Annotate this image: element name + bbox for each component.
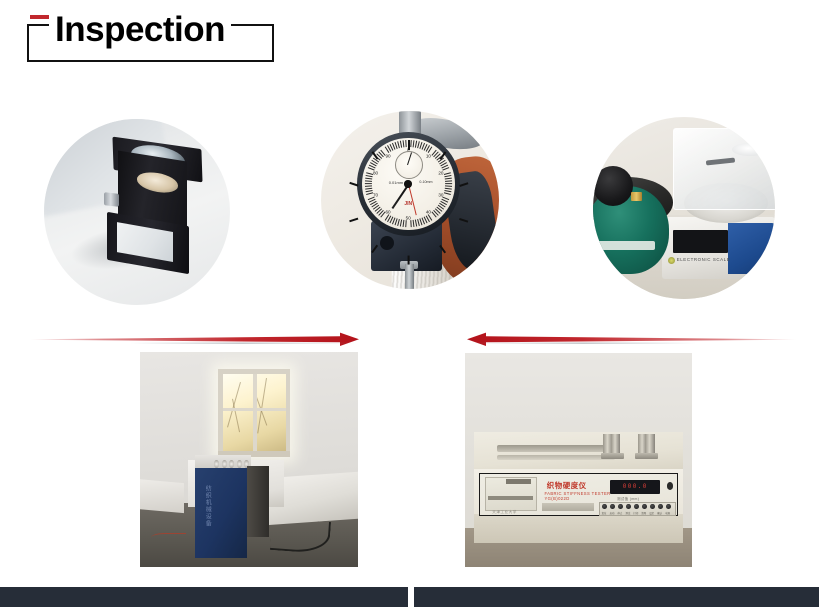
page-title: Inspection (49, 7, 231, 53)
tester-button-label: 停止 (618, 511, 623, 515)
machine-knob[interactable] (222, 460, 227, 469)
tester-button-label: 清零 (641, 511, 646, 515)
gauge-tick (403, 141, 405, 148)
tester-button-label: 设定 (649, 511, 654, 515)
gauge-scale-number: 20 (438, 171, 443, 176)
gauge-scale-number: 60 (385, 209, 390, 214)
window-mullion-horizontal (223, 408, 286, 411)
gauge-tick (445, 193, 452, 196)
gauge-tick (405, 221, 406, 228)
gauge-tick (443, 167, 449, 170)
gauge-dial-face: 0102030405060708090 0.01mm 0-10mm JIN (362, 138, 455, 231)
tester-button[interactable] (650, 504, 655, 510)
gauge-tick (366, 193, 373, 196)
tester-led-display: 000.0 (610, 480, 660, 493)
tester-clamp-base (635, 453, 658, 459)
tester-button-label: 复位 (602, 511, 607, 515)
gauge-tick (350, 218, 359, 222)
photo-thread-counter-magnifier (44, 119, 230, 305)
tester-label-model: YG(B)022D (544, 496, 569, 501)
gauge-scale-number: 30 (438, 192, 443, 197)
gauge-scale-number: 80 (373, 171, 378, 176)
gauge-needle-hub (404, 180, 411, 187)
tester-paper-slot (488, 496, 533, 499)
gauge-scale-number: 90 (385, 154, 390, 159)
tester-slide-rail (497, 445, 615, 452)
window-mullion-vertical (253, 374, 256, 451)
photo-coating-machine: 纺织机械设备 (140, 352, 358, 567)
machine-dark-gap (247, 466, 269, 537)
tester-manufacturer-label: 天津工业大学 (492, 510, 517, 515)
tester-panel-recess (542, 503, 594, 511)
tester-indicator-lamp (667, 482, 673, 489)
gauge-scale-number: 70 (373, 192, 378, 197)
machine-cabinet-label: 纺织机械设备 (203, 485, 210, 527)
machine-knob[interactable] (229, 460, 234, 469)
gauge-dial-bezel: 0102030405060708090 0.01mm 0-10mm JIN (357, 132, 460, 235)
gauge-anvil (405, 264, 414, 289)
gauge-resolution-label: 0.01mm (389, 180, 403, 185)
tester-sample-clamp (611, 434, 620, 453)
photo-fabric-stiffness-tester: 织物硬度仪 FABRIC STIFFNESS TESTER YG(B)022D … (465, 353, 692, 567)
glass-reflection (732, 143, 768, 156)
tester-clamp-base (601, 453, 624, 459)
gauge-tick (365, 181, 372, 182)
gauge-scale-number: 10 (426, 154, 431, 159)
gsm-cutter-handle-knob (593, 166, 633, 206)
machine-knob[interactable] (214, 460, 219, 469)
red-cable (151, 533, 186, 545)
tester-lower-body (474, 514, 683, 544)
tester-slide-rail-secondary (497, 455, 615, 460)
tester-printer-head (506, 479, 531, 483)
gauge-brand-logo: JIN (404, 201, 412, 207)
gsm-cutter-brass-screw (631, 192, 642, 201)
photo-dial-thickness-gauge: 0102030405060708090 0.01mm 0-10mm JIN (321, 111, 499, 289)
tester-button[interactable] (658, 504, 663, 510)
tester-label-chinese: 织物硬度仪 (547, 480, 587, 491)
magnifier-focus-knob (104, 193, 119, 208)
gauge-frame-hole (380, 236, 394, 250)
machine-knob-group (214, 460, 249, 469)
gauge-range-label: 0-10mm (419, 180, 432, 184)
gauge-tick (350, 183, 359, 187)
divider-arrow-right (466, 332, 796, 348)
tester-button-label: 测试 (625, 511, 630, 515)
tester-button-label: 打印 (633, 511, 638, 515)
tester-led-caption: 测试值 (mm) (617, 496, 639, 501)
tester-button-label: 确认 (657, 511, 662, 515)
gauge-tick (446, 183, 453, 184)
gauge-tick (411, 221, 412, 228)
gsm-cutter-label-band (593, 241, 655, 250)
tester-led-value: 000.0 (623, 483, 648, 490)
title-block: Inspection (27, 14, 277, 64)
divider-arrow-left (30, 332, 360, 348)
balance-lcd-display (673, 230, 728, 254)
gauge-tick (446, 181, 453, 182)
gauge-scale-number: 40 (426, 209, 431, 214)
machine-knob[interactable] (237, 460, 242, 469)
machine-infeed-section (140, 479, 184, 513)
gauge-tick (408, 256, 410, 265)
tester-label-english: FABRIC STIFFNESS TESTER YG(B)022D (544, 491, 610, 501)
gauge-tick (405, 140, 406, 147)
tester-sample-clamp (645, 434, 654, 453)
circle-photo-thickness-gauge: 0102030405060708090 0.01mm 0-10mm JIN (321, 111, 499, 289)
circle-photo-gsm-balance: ELECTRONIC SCALE (593, 117, 775, 299)
tester-button-label: 启动 (610, 511, 615, 515)
gauge-tick (428, 147, 432, 153)
gauge-tick (365, 183, 372, 184)
balance-brand-label: ELECTRONIC SCALE (677, 257, 731, 262)
gauge-scale-number: 50 (406, 216, 411, 221)
tester-button[interactable] (666, 504, 671, 510)
tester-button-label: 电源 (665, 511, 670, 515)
footer-bar-left (0, 587, 408, 607)
circle-photo-thread-counter (44, 119, 230, 305)
balance-glass-shield (673, 128, 775, 210)
balance-blue-trim (728, 223, 775, 274)
photo-gsm-cutter-and-balance: ELECTRONIC SCALE (593, 117, 775, 299)
footer-bar-right (414, 587, 819, 607)
